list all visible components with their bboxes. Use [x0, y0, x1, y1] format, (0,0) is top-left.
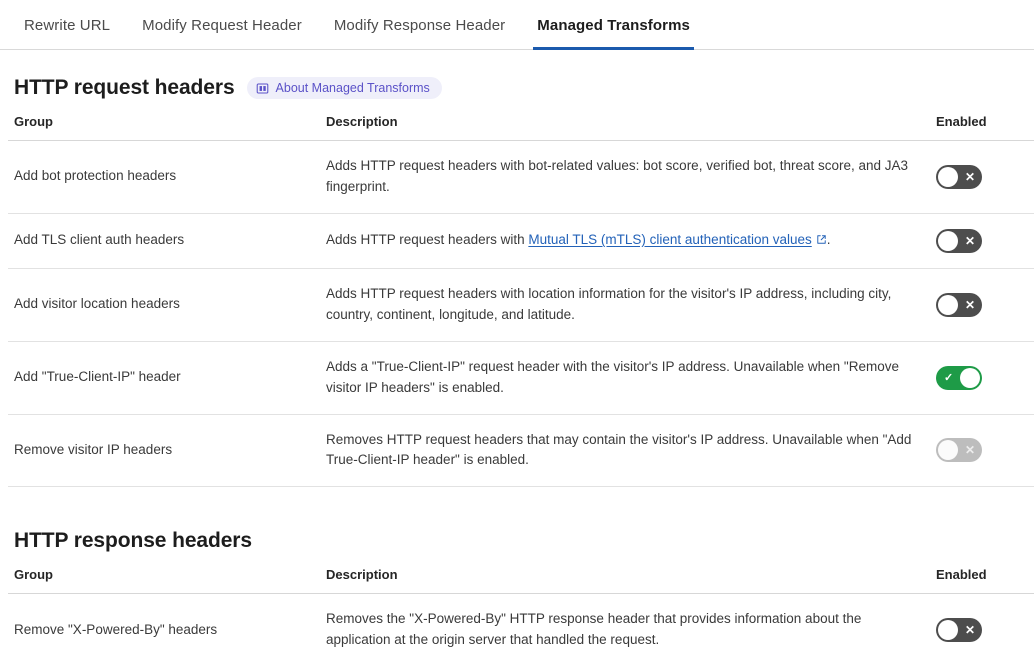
column-header-group: Group: [8, 114, 320, 141]
row-enabled-cell: ✕: [930, 414, 1034, 487]
tab-label: Modify Response Header: [334, 17, 505, 34]
mutual-tls-link[interactable]: Mutual TLS (mTLS) client authentication …: [528, 232, 811, 247]
about-managed-transforms-badge[interactable]: About Managed Transforms: [247, 77, 442, 99]
toggle-knob: [938, 231, 958, 251]
row-description: Adds a "True-Client-IP" request header w…: [320, 341, 930, 414]
external-link-icon: [816, 231, 827, 252]
cross-icon: ✕: [965, 229, 975, 253]
cross-icon: ✕: [965, 165, 975, 189]
toggle-remove-visitor-ip-headers: ✕: [936, 438, 982, 462]
section-header: HTTP response headers: [8, 529, 1026, 553]
cross-icon: ✕: [965, 293, 975, 317]
tab-modify-response-header[interactable]: Modify Response Header: [318, 18, 521, 49]
row-group-name: Add bot protection headers: [8, 141, 320, 214]
request-headers-table: Group Description Enabled Add bot protec…: [8, 114, 1034, 487]
row-description: Removes HTTP request headers that may co…: [320, 414, 930, 487]
toggle-knob: [938, 620, 958, 640]
table-header-row: Group Description Enabled: [8, 114, 1034, 141]
cross-icon: ✕: [965, 618, 975, 642]
row-group-name: Remove visitor IP headers: [8, 414, 320, 487]
description-prefix: Adds HTTP request headers with: [326, 232, 528, 247]
column-header-enabled: Enabled: [930, 567, 1034, 594]
column-header-description: Description: [320, 567, 930, 594]
section-http-response-headers: HTTP response headers Group Description …: [8, 529, 1026, 653]
row-description: Adds HTTP request headers with location …: [320, 268, 930, 341]
tab-label: Modify Request Header: [142, 17, 302, 34]
toggle-knob: [938, 440, 958, 460]
row-group-name: Add TLS client auth headers: [8, 213, 320, 268]
row-description: Removes the "X-Powered-By" HTTP response…: [320, 594, 930, 653]
section-http-request-headers: HTTP request headers About Managed Trans…: [8, 76, 1026, 487]
tab-managed-transforms[interactable]: Managed Transforms: [521, 18, 706, 49]
toggle-knob: [938, 295, 958, 315]
book-icon: [256, 82, 269, 95]
table-row: Add "True-Client-IP" header Adds a "True…: [8, 341, 1034, 414]
tab-label: Rewrite URL: [24, 17, 110, 34]
tab-rewrite-url[interactable]: Rewrite URL: [8, 18, 126, 49]
check-icon: ✓: [944, 366, 953, 390]
row-group-name: Add visitor location headers: [8, 268, 320, 341]
toggle-add-visitor-location-headers[interactable]: ✕: [936, 293, 982, 317]
link-text: Mutual TLS (mTLS) client authentication …: [528, 232, 811, 247]
tab-label: Managed Transforms: [537, 17, 690, 34]
table-row: Add TLS client auth headers Adds HTTP re…: [8, 213, 1034, 268]
page-title: HTTP response headers: [14, 529, 252, 553]
response-headers-table: Group Description Enabled Remove "X-Powe…: [8, 567, 1034, 653]
toggle-knob: [938, 167, 958, 187]
toggle-knob: [960, 368, 980, 388]
toggle-add-tls-client-auth-headers[interactable]: ✕: [936, 229, 982, 253]
column-header-enabled: Enabled: [930, 114, 1034, 141]
table-row: Remove visitor IP headers Removes HTTP r…: [8, 414, 1034, 487]
section-header: HTTP request headers About Managed Trans…: [8, 76, 1026, 100]
description-suffix: .: [827, 232, 831, 247]
cross-icon: ✕: [965, 438, 975, 462]
badge-label: About Managed Transforms: [276, 81, 430, 95]
table-row: Add visitor location headers Adds HTTP r…: [8, 268, 1034, 341]
column-header-description: Description: [320, 114, 930, 141]
row-group-name: Add "True-Client-IP" header: [8, 341, 320, 414]
row-description: Adds HTTP request headers with Mutual TL…: [320, 213, 930, 268]
table-row: Add bot protection headers Adds HTTP req…: [8, 141, 1034, 214]
toggle-add-bot-protection-headers[interactable]: ✕: [936, 165, 982, 189]
page-title: HTTP request headers: [14, 76, 235, 100]
tab-bar: Rewrite URL Modify Request Header Modify…: [0, 0, 1034, 50]
toggle-add-true-client-ip-header[interactable]: ✓: [936, 366, 982, 390]
row-enabled-cell: ✕: [930, 594, 1034, 653]
row-group-name: Remove "X-Powered-By" headers: [8, 594, 320, 653]
column-header-group: Group: [8, 567, 320, 594]
table-header-row: Group Description Enabled: [8, 567, 1034, 594]
row-enabled-cell: ✕: [930, 141, 1034, 214]
row-description: Adds HTTP request headers with bot-relat…: [320, 141, 930, 214]
toggle-remove-x-powered-by-headers[interactable]: ✕: [936, 618, 982, 642]
row-enabled-cell: ✓: [930, 341, 1034, 414]
tab-modify-request-header[interactable]: Modify Request Header: [126, 18, 318, 49]
page-content: HTTP request headers About Managed Trans…: [0, 76, 1034, 653]
row-enabled-cell: ✕: [930, 268, 1034, 341]
table-row: Remove "X-Powered-By" headers Removes th…: [8, 594, 1034, 653]
row-enabled-cell: ✕: [930, 213, 1034, 268]
